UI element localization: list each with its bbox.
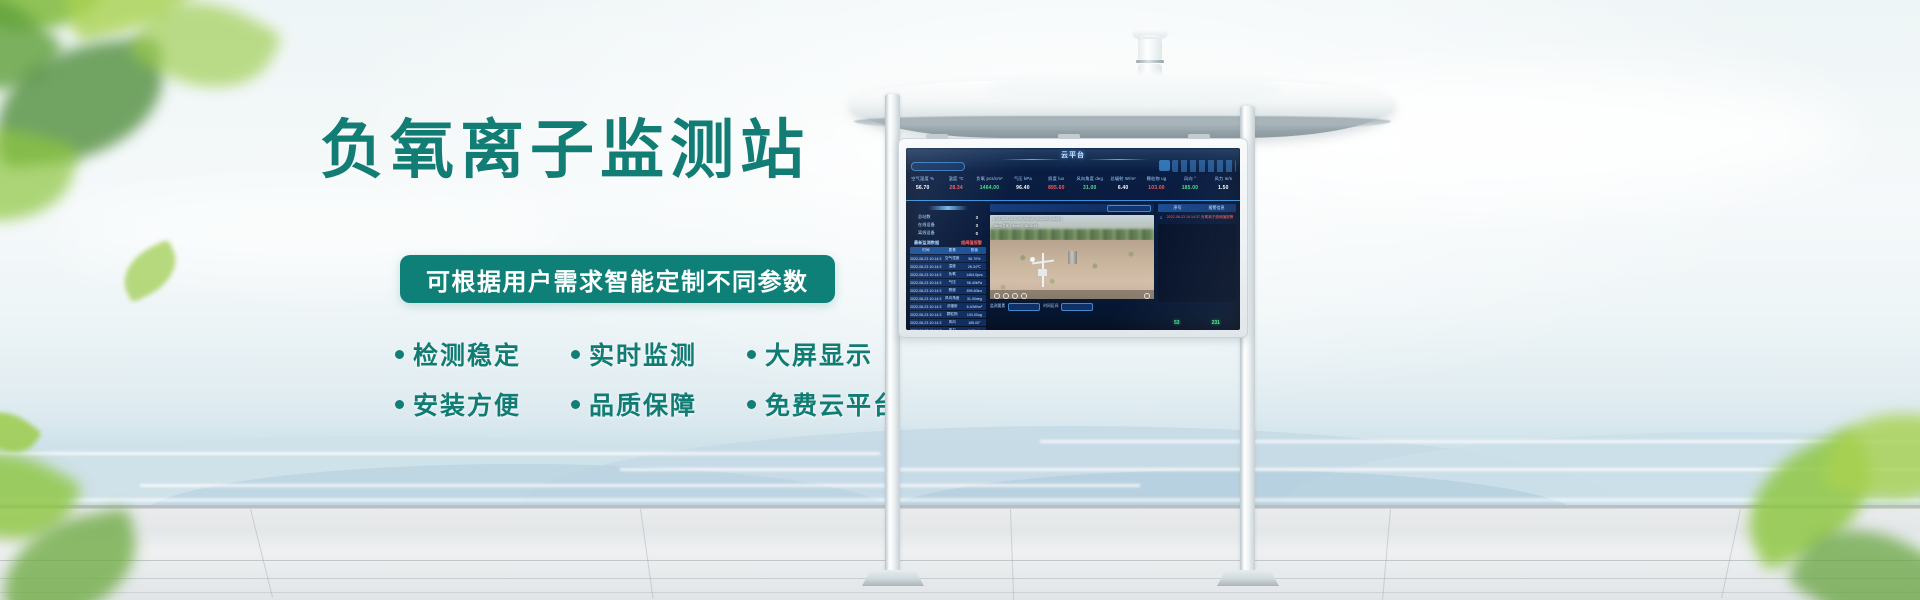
alarm-footer-values: 53 231 <box>1158 320 1236 326</box>
alarm-tab-label[interactable]: 超阈值报警 <box>961 240 982 246</box>
filter-label-element: 监测要素 <box>990 304 1005 309</box>
footer-value: 53 <box>1174 320 1180 326</box>
alarm-header-row: 序号 报警信息 <box>1158 204 1236 212</box>
metric-cell: 气压 kPa 96.40 <box>1006 174 1039 200</box>
cell-time: 2022-06-23 10:14:37 <box>910 329 942 331</box>
alarm-chart-area <box>1158 224 1236 302</box>
feature-item: 安装方便 <box>395 386 521 422</box>
video-overlay-line-2: 38m/s 正南 1.5m/s 01:30:16.48 <box>993 223 1037 228</box>
column-header: 要素 <box>942 248 963 253</box>
marketing-copy: 负氧离子监测站 可根据用户需求智能定制不同参数 检测稳定 实时监测 大屏显示 <box>0 0 960 600</box>
cell-time: 2022-06-23 10:14:37 <box>910 273 942 277</box>
metric-value: 1.50 <box>1207 183 1240 193</box>
fullscreen-icon[interactable] <box>1144 293 1150 299</box>
subtitle-pill-label: 可根据用户需求智能定制不同参数 <box>426 262 809 297</box>
feature-label: 实时监测 <box>589 336 697 372</box>
bullet-dot-icon <box>571 400 580 409</box>
snapshot-icon[interactable] <box>1003 293 1009 299</box>
cell-element: 气压 <box>942 280 963 285</box>
range-select[interactable] <box>1061 303 1093 311</box>
product-banner: 负氧离子监测站 可根据用户需求智能定制不同参数 检测稳定 实时监测 大屏显示 <box>0 0 1920 600</box>
cell-element: 照度 <box>942 288 963 293</box>
feature-item: 检测稳定 <box>395 336 521 372</box>
metric-cell: 风向角度 deg 31.00 <box>1073 174 1106 200</box>
page-title: 负氧离子监测站 <box>320 118 810 182</box>
metric-label: 风向角度 deg <box>1073 175 1106 183</box>
stat-row: 在线设备 3 <box>910 221 986 229</box>
table-row[interactable]: 2022-06-23 10:14:37 风向角度 31.00deg <box>910 295 986 302</box>
metric-cell: 照度 lux 895.60 <box>1040 174 1073 200</box>
feature-label: 检测稳定 <box>413 336 521 372</box>
column-header: 时间 <box>910 248 942 253</box>
metric-label: 照度 lux <box>1040 175 1073 183</box>
metric-label: 负氧 pcs/cm³ <box>973 175 1006 183</box>
footer-value: 231 <box>1212 320 1220 326</box>
metric-value: 6.40 <box>1106 183 1139 193</box>
alarm-row[interactable]: 1 2022-06-23 10:14:37 负氧离子超阈值报警 <box>1158 214 1236 221</box>
cell-time: 2022-06-23 10:14:37 <box>910 305 942 309</box>
bullet-dot-icon <box>747 400 756 409</box>
metric-cell: 风向 ° 185.00 <box>1173 174 1206 200</box>
table-row[interactable]: 2022-06-23 10:14:37 颗粒物 103.00ug <box>910 311 986 318</box>
metric-value: 96.40 <box>1006 183 1039 193</box>
feature-row-2: 安装方便 品质保障 免费云平台 <box>395 386 900 422</box>
metric-label: 总辐射 W/m² <box>1106 175 1139 183</box>
cell-element: 总辐射 <box>942 304 963 309</box>
video-toolbar <box>990 204 1154 212</box>
stat-row: 离线设备 0 <box>910 229 986 237</box>
weather-station-in-frame <box>1034 253 1052 287</box>
column-header: 数值 <box>963 248 986 253</box>
data-table-title: 最新监测数据 <box>914 240 939 246</box>
stat-value: 3 <box>976 223 978 228</box>
cell-value: 895.60lux <box>963 289 986 293</box>
cell-time: 2022-06-23 10:14:37 <box>910 257 942 261</box>
weather-icon <box>1159 160 1170 171</box>
bullet-dot-icon <box>571 350 580 359</box>
video-panel: UTM-0807 25.3C/1PM/64N/0.1S/LC/2P/0.0M/3… <box>990 204 1154 328</box>
canopy-underside <box>854 116 1391 130</box>
feature-item: 品质保障 <box>571 386 697 422</box>
cell-time: 2022-06-23 10:14:37 <box>910 265 942 269</box>
metric-strip: 空气湿度 % 56.70 温度 ℃ 28.34 负氧 pcs/cm³ 1464.… <box>906 174 1240 201</box>
live-camera-feed[interactable]: UTM-0807 25.3C/1PM/64N/0.1S/LC/2P/0.0M/3… <box>990 215 1154 299</box>
table-header-row: 时间 要素 数值 <box>910 247 986 254</box>
stat-key: 总站数 <box>918 214 931 220</box>
dashboard-screen[interactable]: 云平台 空气湿度 % 56.70 温度 ℃ 28.34 负氧 pcs/cm³ 1… <box>906 148 1240 330</box>
play-icon[interactable] <box>994 293 1000 299</box>
cell-value: 28.34℃ <box>963 265 986 269</box>
stat-key: 离线设备 <box>918 230 935 236</box>
stat-value: 0 <box>976 231 978 236</box>
cell-value: 96.40kPa <box>963 281 986 285</box>
subtitle-pill: 可根据用户需求智能定制不同参数 <box>400 255 835 303</box>
metric-value: 31.00 <box>1073 183 1106 193</box>
cell-time: 2022-06-23 10:14:37 <box>910 289 942 293</box>
forecast-widget <box>1172 160 1236 172</box>
cell-time: 2022-06-23 10:14:37 <box>910 281 942 285</box>
feature-row-1: 检测稳定 实时监测 大屏显示 <box>395 336 873 372</box>
rain-gauge-in-frame <box>1068 251 1077 264</box>
leaf-decoration-bottom-right <box>1730 420 1920 600</box>
monitoring-station-kiosk: 云平台 空气湿度 % 56.70 温度 ℃ 28.34 负氧 pcs/cm³ 1… <box>840 20 1400 600</box>
metric-label: 颗粒物 ug <box>1140 175 1173 183</box>
alarm-column-header: 报警信息 <box>1197 205 1236 211</box>
cell-element: 风向 <box>942 320 963 325</box>
cell-element: 风向角度 <box>942 296 963 301</box>
metric-cell: 颗粒物 ug 103.00 <box>1140 174 1173 200</box>
stat-value: 3 <box>976 215 978 220</box>
chart-filter-bar: 监测要素 时间区间 <box>990 302 1154 311</box>
cell-time: 2022-06-23 10:14:37 <box>910 321 942 325</box>
cell-element: 空气湿度 <box>942 256 963 261</box>
cell-element: 颗粒物 <box>942 312 963 317</box>
metric-label: 风力 m/s <box>1207 175 1240 183</box>
cell-value: 185.00° <box>963 321 986 325</box>
cell-value: 6.40W/m² <box>963 305 986 309</box>
cell-value: 1.50m/s <box>963 329 986 331</box>
table-row[interactable]: 2022-06-23 10:14:37 风向 185.00° <box>910 319 986 326</box>
metric-value: 56.70 <box>906 183 939 193</box>
metric-value: 895.60 <box>1040 183 1073 193</box>
post-base-plate <box>1217 570 1279 586</box>
canopy-highlight <box>990 72 1280 106</box>
table-row[interactable]: 2022-06-23 10:14:37 空气湿度 56.70% <box>910 255 986 262</box>
metric-cell: 负氧 pcs/cm³ 1464.00 <box>973 174 1006 200</box>
alarm-panel: 序号 报警信息 1 2022-06-23 10:14:37 负氧离子超阈值报警 … <box>1158 204 1236 328</box>
table-row[interactable]: 2022-06-23 10:14:37 负氧 1464.0pcs <box>910 271 986 278</box>
post-base-plate <box>862 570 924 586</box>
data-table-title-bar: 最新监测数据 超阈值报警 <box>910 240 986 246</box>
metric-cell: 空气湿度 % 56.70 <box>906 174 939 200</box>
metric-label: 风向 ° <box>1173 175 1206 183</box>
table-row[interactable]: 2022-06-23 10:14:37 气压 96.40kPa <box>910 279 986 286</box>
cell-time: 2022-06-23 10:14:37 <box>910 297 942 301</box>
metric-label: 空气湿度 % <box>906 175 939 183</box>
record-icon[interactable] <box>1012 293 1018 299</box>
cell-value: 56.70% <box>963 257 986 261</box>
stat-key: 在线设备 <box>918 222 935 228</box>
bullet-dot-icon <box>747 350 756 359</box>
alarm-column-header: 序号 <box>1158 205 1197 211</box>
metric-cell: 风力 m/s 1.50 <box>1207 174 1240 200</box>
filter-label-range: 时间区间 <box>1043 304 1058 309</box>
title-decoration <box>1002 159 1062 160</box>
cell-value: 31.00deg <box>963 297 986 301</box>
video-controls-bar[interactable] <box>990 290 1154 299</box>
table-row[interactable]: 2022-06-23 10:14:37 风力 1.50m/s <box>910 327 986 330</box>
title-decoration <box>1088 159 1148 160</box>
cell-value: 1464.0pcs <box>963 273 986 277</box>
metric-value: 185.00 <box>1173 183 1206 193</box>
cell-value: 103.00ug <box>963 313 986 317</box>
bullet-dot-icon <box>395 350 404 359</box>
alarm-text: 2022-06-23 10:14:37 负氧离子超阈值报警 <box>1164 215 1236 220</box>
feature-label: 安装方便 <box>413 386 521 422</box>
volume-icon[interactable] <box>1021 293 1027 299</box>
metric-value: 28.34 <box>939 183 972 193</box>
cell-element: 温度 <box>942 264 963 269</box>
metric-value: 1464.00 <box>973 183 1006 193</box>
station-search-input[interactable] <box>911 162 965 171</box>
dashboard-body: 总站数 3 在线设备 3 离线设备 0 最新监测数据 超阈值报警 <box>906 202 1240 330</box>
metric-value: 103.00 <box>1140 183 1173 193</box>
metric-cell: 总辐射 W/m² 6.40 <box>1106 174 1139 200</box>
element-select[interactable] <box>1008 303 1040 311</box>
video-overlay-line-1: UTM-0807 25.3C/1PM/64N/0.1S/LC/2P/0.0M/3… <box>993 217 1062 221</box>
stat-row: 总站数 3 <box>910 213 986 221</box>
feature-label: 品质保障 <box>589 386 697 422</box>
cell-time: 2022-06-23 10:14:37 <box>910 313 942 317</box>
metric-cell: 温度 ℃ 28.34 <box>939 174 972 200</box>
metric-label: 气压 kPa <box>1006 175 1039 183</box>
station-select[interactable] <box>1107 205 1151 212</box>
metric-label: 温度 ℃ <box>939 175 972 183</box>
feature-item: 实时监测 <box>571 336 697 372</box>
bullet-dot-icon <box>395 400 404 409</box>
table-row[interactable]: 2022-06-23 10:14:37 照度 895.60lux <box>910 287 986 294</box>
table-row[interactable]: 2022-06-23 10:14:37 温度 28.34℃ <box>910 263 986 270</box>
cell-element: 负氧 <box>942 272 963 277</box>
dashboard-title: 云平台 <box>906 150 1240 160</box>
left-stats-panel: 总站数 3 在线设备 3 离线设备 0 最新监测数据 超阈值报警 <box>910 204 986 328</box>
cell-element: 风力 <box>942 328 963 330</box>
table-row[interactable]: 2022-06-23 10:14:37 总辐射 6.40W/m² <box>910 303 986 310</box>
